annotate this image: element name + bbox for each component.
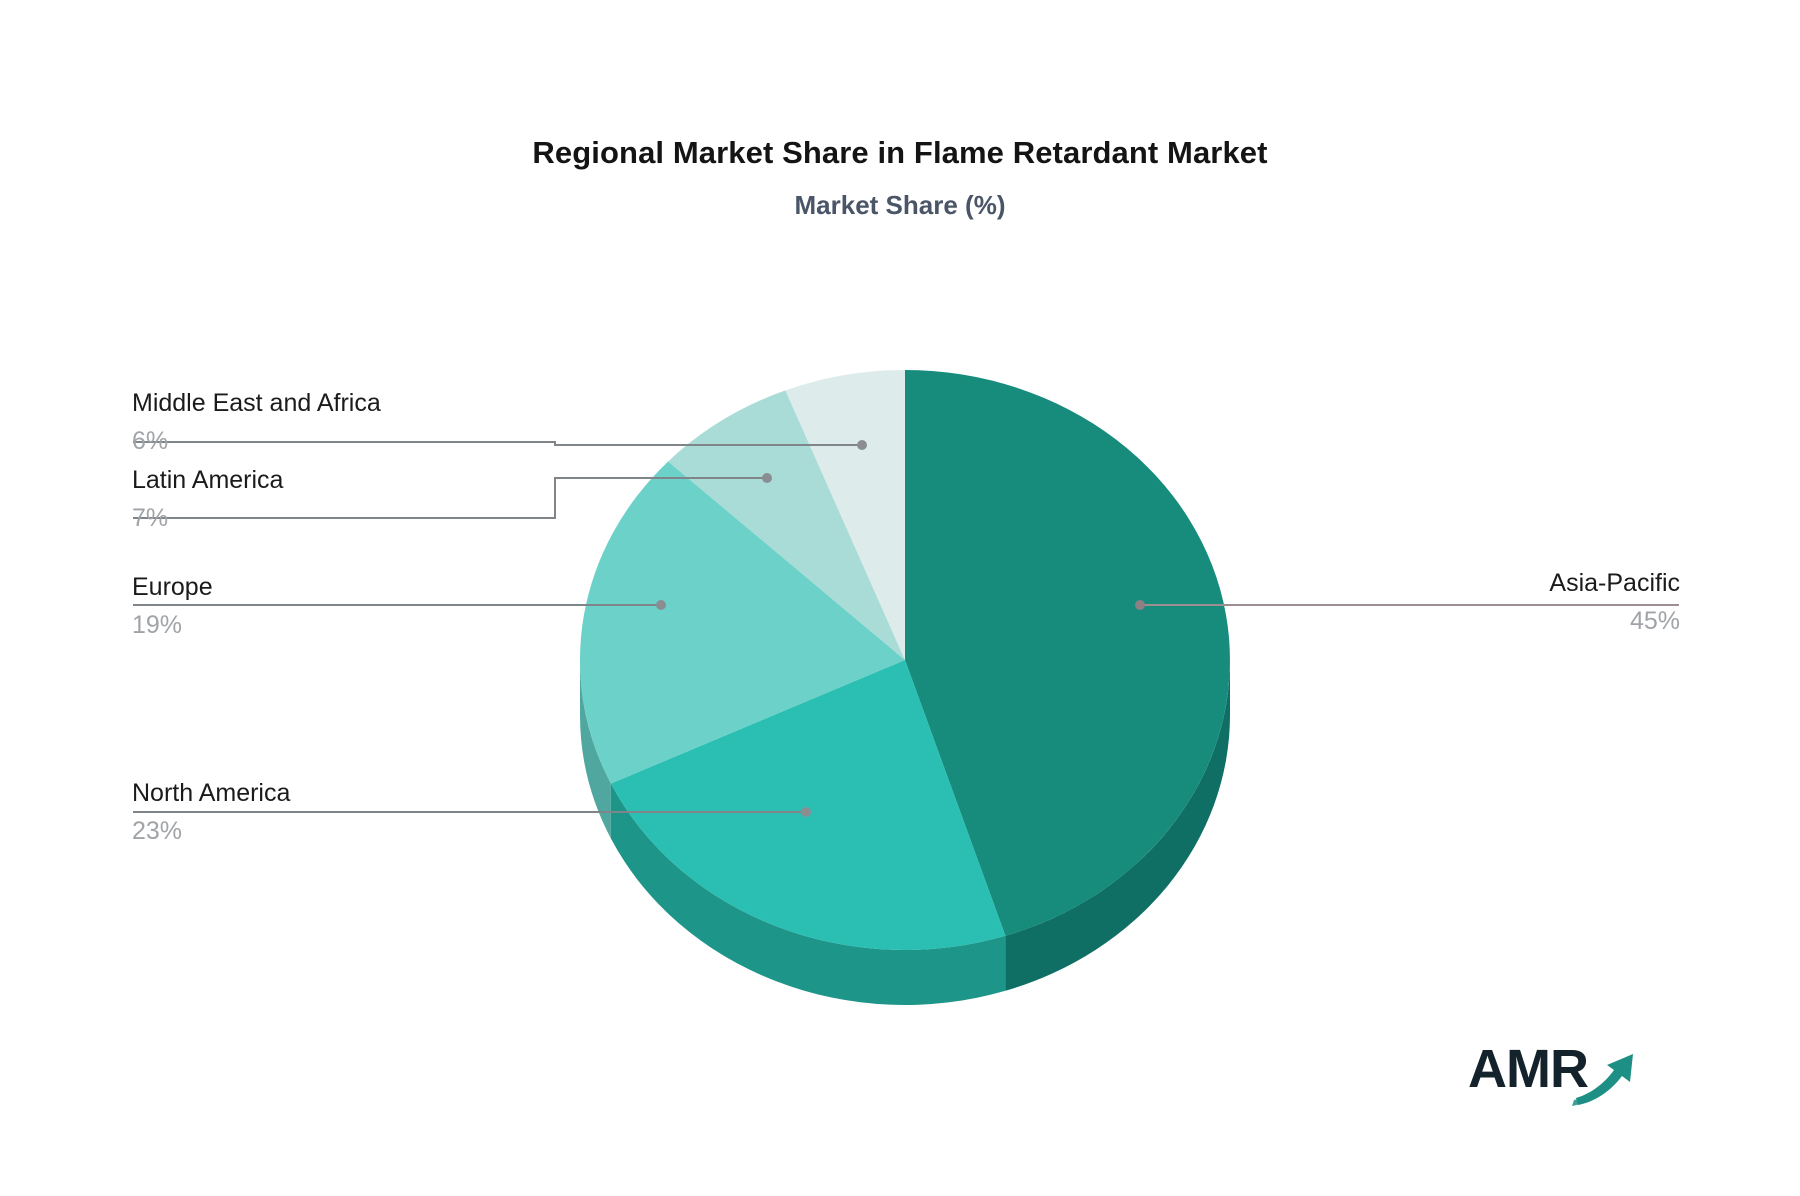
callout-value-north-america: 23% bbox=[132, 816, 290, 846]
callout-middle-east-and-africa[interactable]: Middle East and Africa 6% bbox=[132, 388, 381, 456]
callout-value-latin-america: 7% bbox=[132, 503, 283, 533]
leader-dot-latin-america bbox=[762, 473, 772, 483]
callout-value-middle-east-and-africa: 6% bbox=[132, 426, 381, 456]
leader-dot-north-america bbox=[801, 807, 811, 817]
callout-label-latin-america: Latin America bbox=[132, 465, 283, 495]
growth-arrow-icon bbox=[1468, 1032, 1648, 1110]
leader-dot-middle-east-and-africa bbox=[857, 440, 867, 450]
callout-asia-pacific[interactable]: Asia-Pacific 45% bbox=[1549, 568, 1680, 636]
callout-label-europe: Europe bbox=[132, 572, 213, 602]
callout-value-asia-pacific: 45% bbox=[1549, 606, 1680, 636]
chart-canvas: Regional Market Share in Flame Retardant… bbox=[0, 0, 1800, 1196]
callout-latin-america[interactable]: Latin America 7% bbox=[132, 465, 283, 533]
pie-top-face bbox=[580, 370, 1230, 950]
callout-label-middle-east-and-africa: Middle East and Africa bbox=[132, 388, 381, 418]
callout-north-america[interactable]: North America 23% bbox=[132, 778, 290, 846]
callout-label-asia-pacific: Asia-Pacific bbox=[1549, 568, 1680, 598]
leader-dot-asia-pacific bbox=[1135, 600, 1145, 610]
leader-dot-europe bbox=[656, 600, 666, 610]
callout-europe[interactable]: Europe 19% bbox=[132, 572, 213, 640]
callout-value-europe: 19% bbox=[132, 610, 213, 640]
callout-label-north-america: North America bbox=[132, 778, 290, 808]
amr-logo[interactable]: AMR bbox=[1468, 1032, 1648, 1110]
pie-chart-graphic bbox=[0, 0, 1800, 1196]
